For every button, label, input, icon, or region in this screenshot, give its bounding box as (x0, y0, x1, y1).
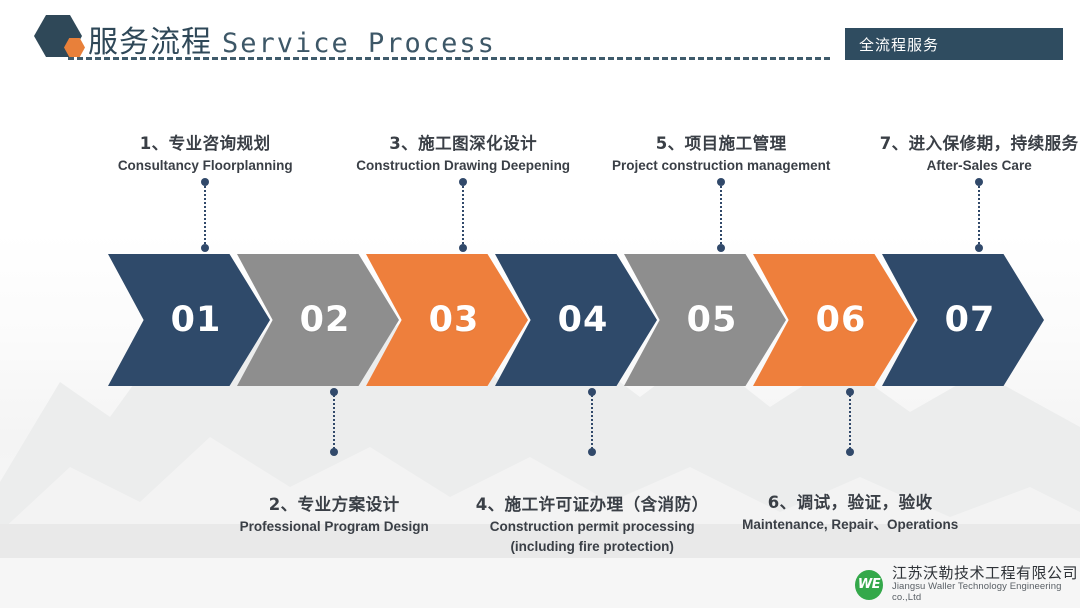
step-label-cn-06: 6、调试，验证，验收 (650, 492, 1050, 514)
company-name-en: Jiangsu Waller Technology Engineering co… (892, 582, 1080, 604)
connector-dotted-line (204, 182, 206, 248)
process-flow-diagram: 011、专业咨询规划Consultancy Floorplanning022、专… (0, 0, 1080, 608)
we-logo-icon: WE (855, 570, 883, 600)
connector-dotted-line (333, 392, 335, 452)
step-label-en-04-2: (including fire protection) (392, 538, 792, 556)
company-name-block: 江苏沃勒技术工程有限公司 Jiangsu Waller Technology E… (892, 565, 1080, 604)
step-label-en-06-1: Maintenance, Repair、Operations (650, 516, 1050, 534)
company-name-cn: 江苏沃勒技术工程有限公司 (892, 565, 1080, 582)
connector-dot-top (459, 178, 467, 186)
connector-dot-bottom (588, 448, 596, 456)
connector-dot-top (717, 178, 725, 186)
connector-dot-bottom (201, 244, 209, 252)
page-title: 服务流程 Service Process (88, 17, 496, 61)
step-label-cn-07: 7、进入保修期，持续服务 (779, 133, 1080, 155)
process-step-number-07: 07 (882, 254, 1044, 386)
header-badge: 全流程服务 (845, 28, 1063, 60)
step-label-en-07-1: After-Sales Care (779, 157, 1080, 175)
connector-dot-bottom (330, 448, 338, 456)
header-badge-label: 全流程服务 (859, 34, 939, 55)
connector-dot-bottom (846, 448, 854, 456)
step-label-07: 7、进入保修期，持续服务After-Sales Care (779, 133, 1080, 175)
step-label-06: 6、调试，验证，验收Maintenance, Repair、Operations (650, 492, 1050, 534)
connector-dot-top (201, 178, 209, 186)
connector-dotted-line (720, 182, 722, 248)
connector-dotted-line (849, 392, 851, 452)
header-dashed-divider (68, 57, 830, 60)
connector-dot-bottom (975, 244, 983, 252)
connector-dot-top (975, 178, 983, 186)
page-title-en: Service Process (222, 28, 496, 59)
connector-dotted-line (462, 182, 464, 248)
company-logo: WE 江苏沃勒技术工程有限公司 Jiangsu Waller Technolog… (855, 565, 1080, 604)
page-header: 服务流程 Service Process 全流程服务 (0, 0, 1080, 86)
connector-dot-top (846, 388, 854, 396)
connector-dot-bottom (717, 244, 725, 252)
connector-dot-bottom (459, 244, 467, 252)
connector-dotted-line (978, 182, 980, 248)
page-title-cn: 服务流程 (88, 17, 212, 61)
connector-dotted-line (591, 392, 593, 452)
connector-dot-top (330, 388, 338, 396)
connector-dot-top (588, 388, 596, 396)
